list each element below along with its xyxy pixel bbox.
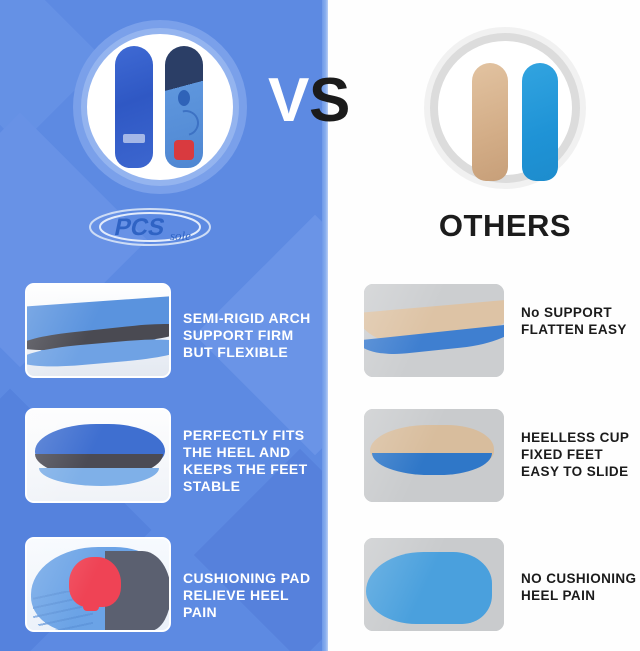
glow-ring-inner [87, 34, 233, 180]
con-photo-plain-foam [364, 538, 504, 631]
con-photo-heelless-cup [364, 409, 504, 502]
con-text-no-support: No SUPPORT FLATTEN EASY [521, 304, 640, 338]
insole-top-view [115, 46, 153, 168]
insole-brandmark [123, 134, 145, 143]
feature-photo-cushioning-pad [25, 537, 171, 632]
arch-oval-icon [178, 90, 190, 106]
vs-letter-s: S [309, 70, 349, 132]
red-heel-pad-icon [174, 140, 194, 160]
feature-photo-arch-support [25, 283, 171, 378]
insole-tan [472, 63, 508, 181]
photo-sheen [364, 284, 504, 377]
con-text-no-cushioning: NO CUSHIONING HEEL PAIN [521, 570, 640, 604]
feature-text-cushioning: CUSHIONING PAD RELIEVE HEEL PAIN [183, 570, 323, 621]
comparison-infographic: PCS sole V S OTHERS SEMI-RIGID ARCH SUPP… [0, 0, 640, 651]
photo-sheen [364, 409, 504, 502]
product-insoles-icon [115, 46, 205, 168]
insole-bottom-view [165, 46, 203, 168]
generic-insoles-icon [472, 63, 568, 181]
insole-blue [522, 63, 558, 181]
others-hero-circle [424, 27, 586, 189]
brand-hero-circle [73, 20, 247, 194]
photo-sheen [27, 410, 169, 501]
brand-logo: PCS sole [88, 204, 212, 250]
photo-sheen [27, 285, 169, 376]
con-photo-flat-profile [364, 284, 504, 377]
feature-text-arch-support: SEMI-RIGID ARCH SUPPORT FIRM BUT FLEXIBL… [183, 310, 323, 361]
brand-logo-secondary: sole [170, 228, 191, 243]
others-title: OTHERS [424, 208, 586, 244]
swirl-icon [168, 105, 204, 141]
brand-logo-primary: PCS [112, 214, 167, 241]
photo-sheen [364, 538, 504, 631]
ring-inner [438, 41, 572, 175]
vs-letter-v: V [268, 70, 308, 132]
feature-text-heel-fit: PERFECTLY FITS THE HEEL AND KEEPS THE FE… [183, 427, 323, 495]
photo-sheen [27, 539, 169, 630]
feature-photo-heel-cup [25, 408, 171, 503]
con-text-heelless-cup: HEELLESS CUP FIXED FEET EASY TO SLIDE [521, 429, 640, 480]
